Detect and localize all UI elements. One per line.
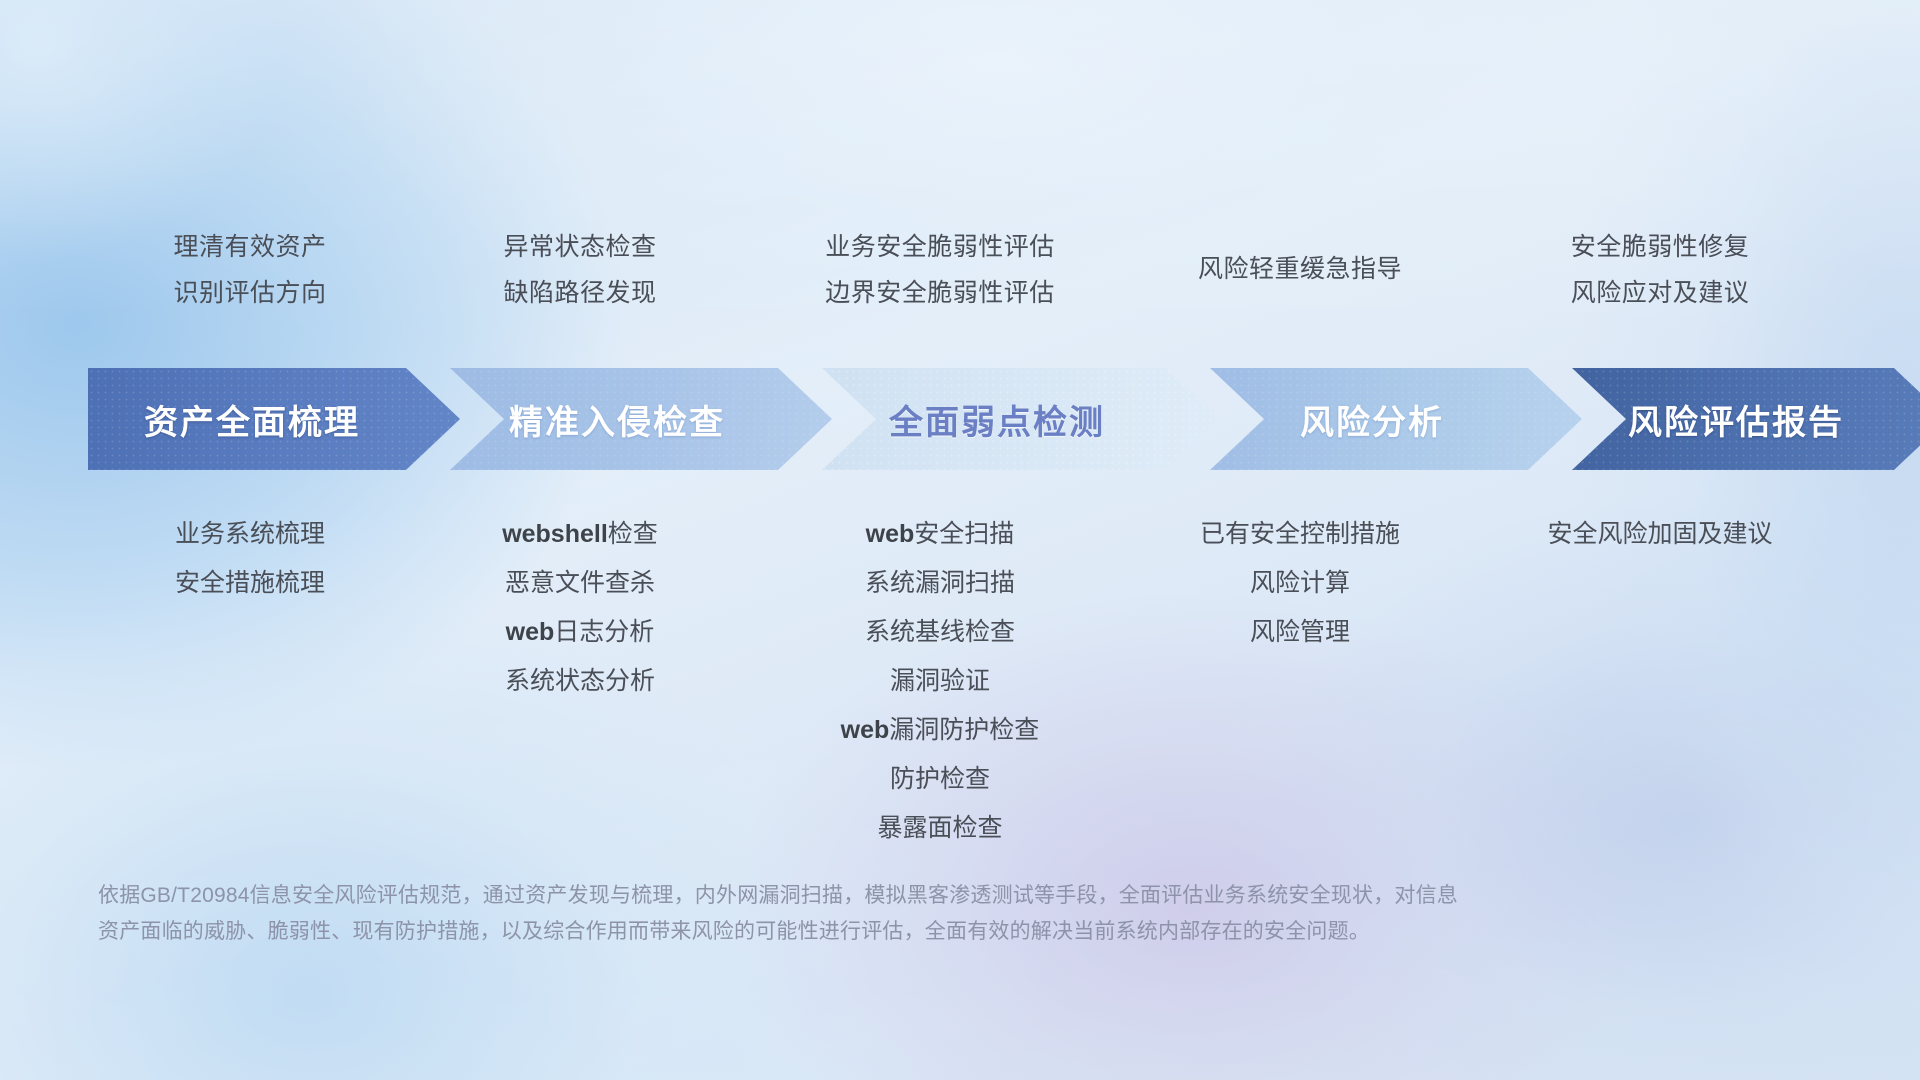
detail-line: 风险计算 — [1090, 559, 1510, 608]
detail-line: 系统基线检查 — [730, 608, 1150, 657]
stage-captions-band: 理清有效资产 识别评估方向 异常状态检查 缺陷路径发现 业务安全脆弱性评估 边界… — [0, 224, 1920, 354]
latin-token: web — [866, 520, 915, 548]
detail-line: 安全风险加固及建议 — [1450, 510, 1870, 559]
caption-line: 风险应对及建议 — [1450, 270, 1870, 316]
stage-caption-risk-report: 安全脆弱性修复 风险应对及建议 — [1450, 224, 1870, 316]
chevron-label: 精准入侵检查 — [509, 395, 725, 444]
stage-details-weakness-detection: web安全扫描 系统漏洞扫描 系统基线检查 漏洞验证 web漏洞防护检查 防护检… — [730, 510, 1150, 853]
caption-line: 安全脆弱性修复 — [1450, 224, 1870, 270]
chevron-stage-intrusion-check[interactable]: 精准入侵检查 — [450, 368, 832, 470]
chevron-label: 资产全面梳理 — [144, 395, 360, 444]
chevron-stage-asset-inventory[interactable]: 资产全面梳理 — [88, 368, 460, 470]
footer-line: 依据GB/T20984信息安全风险评估规范，通过资产发现与梳理，内外网漏洞扫描，… — [98, 878, 1738, 914]
chevron-label: 全面弱点检测 — [889, 395, 1105, 444]
stage-caption-weakness-detection: 业务安全脆弱性评估 边界安全脆弱性评估 — [730, 224, 1150, 316]
detail-line: web日志分析 — [370, 608, 790, 657]
detail-line: 恶意文件查杀 — [370, 559, 790, 608]
stage-caption-risk-analysis: 风险轻重缓急指导 — [1090, 246, 1510, 292]
process-chevron-strip: 资产全面梳理 精准入侵检查 全面弱点检测 风险分析 风险评估报告 — [88, 368, 1848, 470]
caption-line: 风险轻重缓急指导 — [1090, 246, 1510, 292]
detail-line: webshell检查 — [370, 510, 790, 559]
detail-line: 防护检查 — [730, 755, 1150, 804]
stage-details-risk-analysis: 已有安全控制措施 风险计算 风险管理 — [1090, 510, 1510, 657]
stage-details-intrusion-check: webshell检查 恶意文件查杀 web日志分析 系统状态分析 — [370, 510, 790, 706]
infographic-canvas: 理清有效资产 识别评估方向 异常状态检查 缺陷路径发现 业务安全脆弱性评估 边界… — [0, 0, 1920, 1080]
detail-line: web漏洞防护检查 — [730, 706, 1150, 755]
footer-description: 依据GB/T20984信息安全风险评估规范，通过资产发现与梳理，内外网漏洞扫描，… — [98, 878, 1738, 950]
footer-line: 资产面临的威胁、脆弱性、现有防护措施，以及综合作用而带来风险的可能性进行评估，全… — [98, 914, 1738, 950]
detail-line: 系统状态分析 — [370, 657, 790, 706]
detail-line: 风险管理 — [1090, 608, 1510, 657]
detail-line: 暴露面检查 — [730, 804, 1150, 853]
chevron-stage-risk-report[interactable]: 风险评估报告 — [1572, 368, 1920, 470]
chevron-label: 风险分析 — [1300, 395, 1444, 444]
latin-token: webshell — [502, 520, 608, 548]
latin-token: web — [506, 618, 555, 646]
stage-details-band: 业务系统梳理 安全措施梳理 webshell检查 恶意文件查杀 web日志分析 … — [0, 510, 1920, 840]
chevron-stage-risk-analysis[interactable]: 风险分析 — [1210, 368, 1582, 470]
caption-line: 缺陷路径发现 — [370, 270, 790, 316]
detail-line: 漏洞验证 — [730, 657, 1150, 706]
latin-token: web — [841, 716, 890, 744]
caption-line: 边界安全脆弱性评估 — [730, 270, 1150, 316]
caption-line: 异常状态检查 — [370, 224, 790, 270]
chevron-label: 风险评估报告 — [1628, 395, 1844, 444]
detail-line: 已有安全控制措施 — [1090, 510, 1510, 559]
caption-line: 业务安全脆弱性评估 — [730, 224, 1150, 270]
stage-caption-intrusion-check: 异常状态检查 缺陷路径发现 — [370, 224, 790, 316]
chevron-stage-weakness-detection[interactable]: 全面弱点检测 — [822, 368, 1220, 470]
detail-line: 系统漏洞扫描 — [730, 559, 1150, 608]
stage-details-risk-report: 安全风险加固及建议 — [1450, 510, 1870, 559]
detail-line: web安全扫描 — [730, 510, 1150, 559]
